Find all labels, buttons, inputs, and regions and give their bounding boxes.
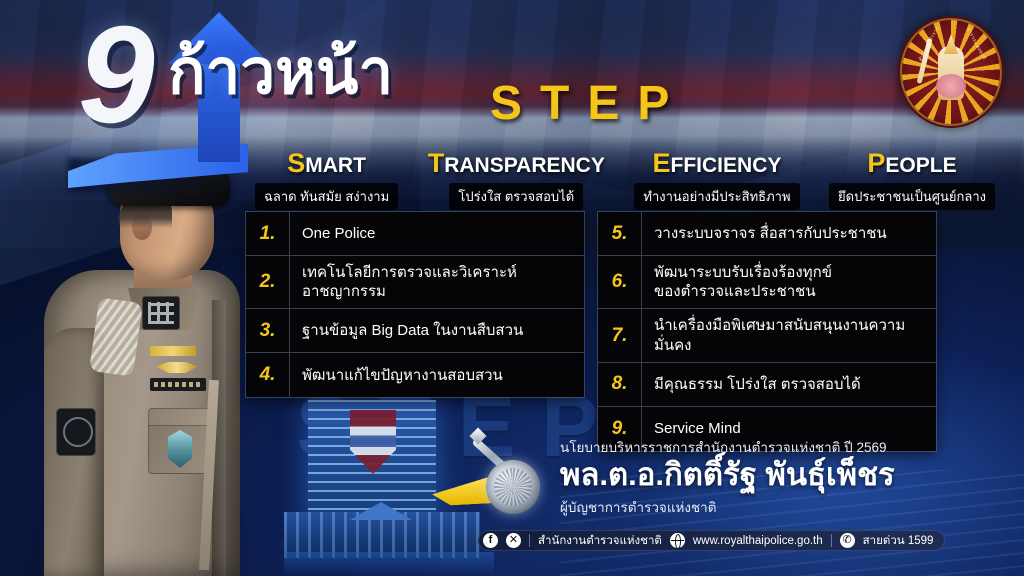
footer-org-name: สำนักงานตำรวจแห่งชาติ	[538, 532, 662, 550]
acronym-transparency: TRANSPARENCY โปร่งใส ตรวจสอบได้	[428, 150, 605, 210]
acronym-people: PEOPLE ยึดประชาชนเป็นศูนย์กลาง	[829, 150, 995, 210]
acronym-word: SMART	[255, 150, 398, 177]
infographic-poster: STEP	[0, 0, 1024, 576]
headline-number: 9	[78, 6, 155, 144]
royal-thai-police-emblem: สำนักงานตำรวจ ตำรวจแห่งชาติ	[898, 16, 1004, 128]
list-item-number: 4.	[246, 353, 290, 397]
footer-divider	[831, 534, 832, 547]
list-item-line1: วางระบบจราจร สื่อสารกับประชาชน	[654, 225, 887, 242]
list-item: 7. นำเครื่องมือพิเศษมาสนับสนุนงานความมั่…	[598, 309, 936, 362]
list-item-line1: นำเครื่องมือพิเศษมาสนับสนุนงานความมั่นคง	[654, 317, 905, 353]
hq-ground-glow	[284, 552, 494, 576]
list-item-line1: One Police	[302, 225, 375, 242]
list-item-line1: พัฒนาแก้ไขปัญหางานสอบสวน	[302, 367, 503, 384]
list-item-text: วางระบบจราจร สื่อสารกับประชาชน	[642, 217, 936, 250]
acronym-subtitle: ยึดประชาชนเป็นศูนย์กลาง	[829, 183, 995, 210]
list-item-number: 8.	[598, 363, 642, 406]
footer-website[interactable]: www.royalthaipolice.go.th	[693, 535, 823, 547]
list-item: 5. วางระบบจราจร สื่อสารกับประชาชน	[598, 212, 936, 256]
acronym-word: TRANSPARENCY	[428, 150, 605, 177]
commissioner-name-block: นโยบายบริหารราชการสำนักงานตำรวจแห่งชาติ …	[560, 440, 1010, 518]
list-item-number: 1.	[246, 212, 290, 255]
contact-footer-bar: f ✕ สำนักงานตำรวจแห่งชาติ www.royalthaip…	[478, 530, 945, 551]
list-item-line1: ฐานข้อมูล Big Data ในงานสืบสวน	[302, 322, 523, 339]
list-item-line2: ของตำรวจและประชาชน	[654, 282, 928, 301]
headline-thai-title: ก้าวหน้า	[168, 42, 393, 104]
list-item-text: One Police	[290, 217, 584, 250]
facebook-icon[interactable]: f	[483, 533, 498, 548]
acronym-efficiency: EFFICIENCY ทำงานอย่างมีประสิทธิภาพ	[634, 150, 799, 210]
acronym-capital: S	[287, 148, 305, 178]
acronym-smart: SMART ฉลาด ทันสมัย สง่างาม	[255, 150, 398, 210]
policy-list-left: 1. One Police 2. เทคโนโลยีการตรวจและวิเค…	[246, 212, 584, 397]
list-item-text: นำเครื่องมือพิเศษมาสนับสนุนงานความมั่นคง	[642, 309, 936, 361]
list-item-number: 3.	[246, 309, 290, 352]
commissioner-name: พล.ต.อ.กิตติ์รัฐ พันธุ์เพ็ชร	[560, 457, 1010, 494]
officer-nameplate	[150, 378, 206, 391]
service-ribbon	[150, 346, 196, 356]
list-item-line1: พัฒนาระบบรับเรื่องร้องทุกข์	[654, 264, 832, 281]
acronym-rest: EOPLE	[885, 154, 956, 177]
acronym-capital: E	[653, 148, 671, 178]
uniform-pocket-flap	[148, 408, 210, 426]
list-item-number: 2.	[246, 256, 290, 308]
acronym-capital: P	[867, 148, 885, 178]
acronym-word: EFFICIENCY	[634, 150, 799, 177]
list-item-text: ฐานข้อมูล Big Data ในงานสืบสวน	[290, 314, 584, 347]
list-item-line1: มีคุณธรรม โปร่งใส ตรวจสอบได้	[654, 376, 861, 393]
emblem-ring	[900, 18, 1002, 126]
step-headline: STEP	[490, 76, 687, 131]
list-item-number: 5.	[598, 212, 642, 255]
list-item: 6. พัฒนาระบบรับเรื่องร้องทุกข์ ของตำรวจแ…	[598, 256, 936, 309]
list-item-text: พัฒนาระบบรับเรื่องร้องทุกข์ ของตำรวจและป…	[642, 256, 936, 308]
acronym-rest: FFICIENCY	[671, 154, 782, 177]
footer-hotline: สายด่วน 1599	[863, 532, 934, 550]
list-item-line1: เทคโนโลยีการตรวจและวิเคราะห์	[302, 264, 517, 281]
police-headquarters-graphic	[284, 392, 484, 576]
list-item: 8. มีคุณธรรม โปร่งใส ตรวจสอบได้	[598, 363, 936, 407]
globe-icon	[670, 533, 685, 548]
list-item: 4. พัฒนาแก้ไขปัญหางานสอบสวน	[246, 353, 584, 397]
list-item-text: มีคุณธรรม โปร่งใส ตรวจสอบได้	[642, 368, 936, 401]
list-item: 2. เทคโนโลยีการตรวจและวิเคราะห์ อาชญากรร…	[246, 256, 584, 309]
acronym-word: PEOPLE	[829, 150, 995, 177]
mace-engraving	[494, 468, 532, 506]
acronym-rest: MART	[305, 154, 366, 177]
acronym-rest: RANSPARENCY	[444, 154, 605, 177]
shoulder-patch	[56, 408, 96, 456]
ceremonial-mace-graphic	[464, 440, 564, 526]
list-item-text: เทคโนโลยีการตรวจและวิเคราะห์ อาชญากรรม	[290, 256, 584, 308]
acronym-subtitle: โปร่งใส ตรวจสอบได้	[449, 183, 583, 210]
policy-subtitle: นโยบายบริหารราชการสำนักงานตำรวจแห่งชาติ …	[560, 440, 1010, 456]
list-item: 3. ฐานข้อมูล Big Data ในงานสืบสวน	[246, 309, 584, 353]
phone-icon: ✆	[840, 533, 855, 548]
footer-divider	[529, 534, 530, 547]
list-item: 1. One Police	[246, 212, 584, 256]
police-officer-portrait	[8, 150, 258, 576]
list-item-number: 6.	[598, 256, 642, 308]
list-item-line1: Service Mind	[654, 420, 741, 437]
rank-insignia	[142, 296, 180, 330]
acronym-subtitle: ทำงานอย่างมีประสิทธิภาพ	[634, 183, 799, 210]
step-acronym-row: SMART ฉลาด ทันสมัย สง่างาม TRANSPARENCY …	[255, 150, 995, 204]
commissioner-position: ผู้บัญชาการตำรวจแห่งชาติ	[560, 496, 1010, 518]
list-item-line2: อาชญากรรม	[302, 282, 576, 301]
policy-list-right: 5. วางระบบจราจร สื่อสารกับประชาชน 6. พัฒ…	[598, 212, 936, 451]
list-item-text: พัฒนาแก้ไขปัญหางานสอบสวน	[290, 359, 584, 392]
x-twitter-icon[interactable]: ✕	[506, 533, 521, 548]
acronym-subtitle: ฉลาด ทันสมัย สง่างาม	[255, 183, 398, 210]
acronym-capital: T	[428, 148, 445, 178]
list-item-number: 7.	[598, 309, 642, 361]
